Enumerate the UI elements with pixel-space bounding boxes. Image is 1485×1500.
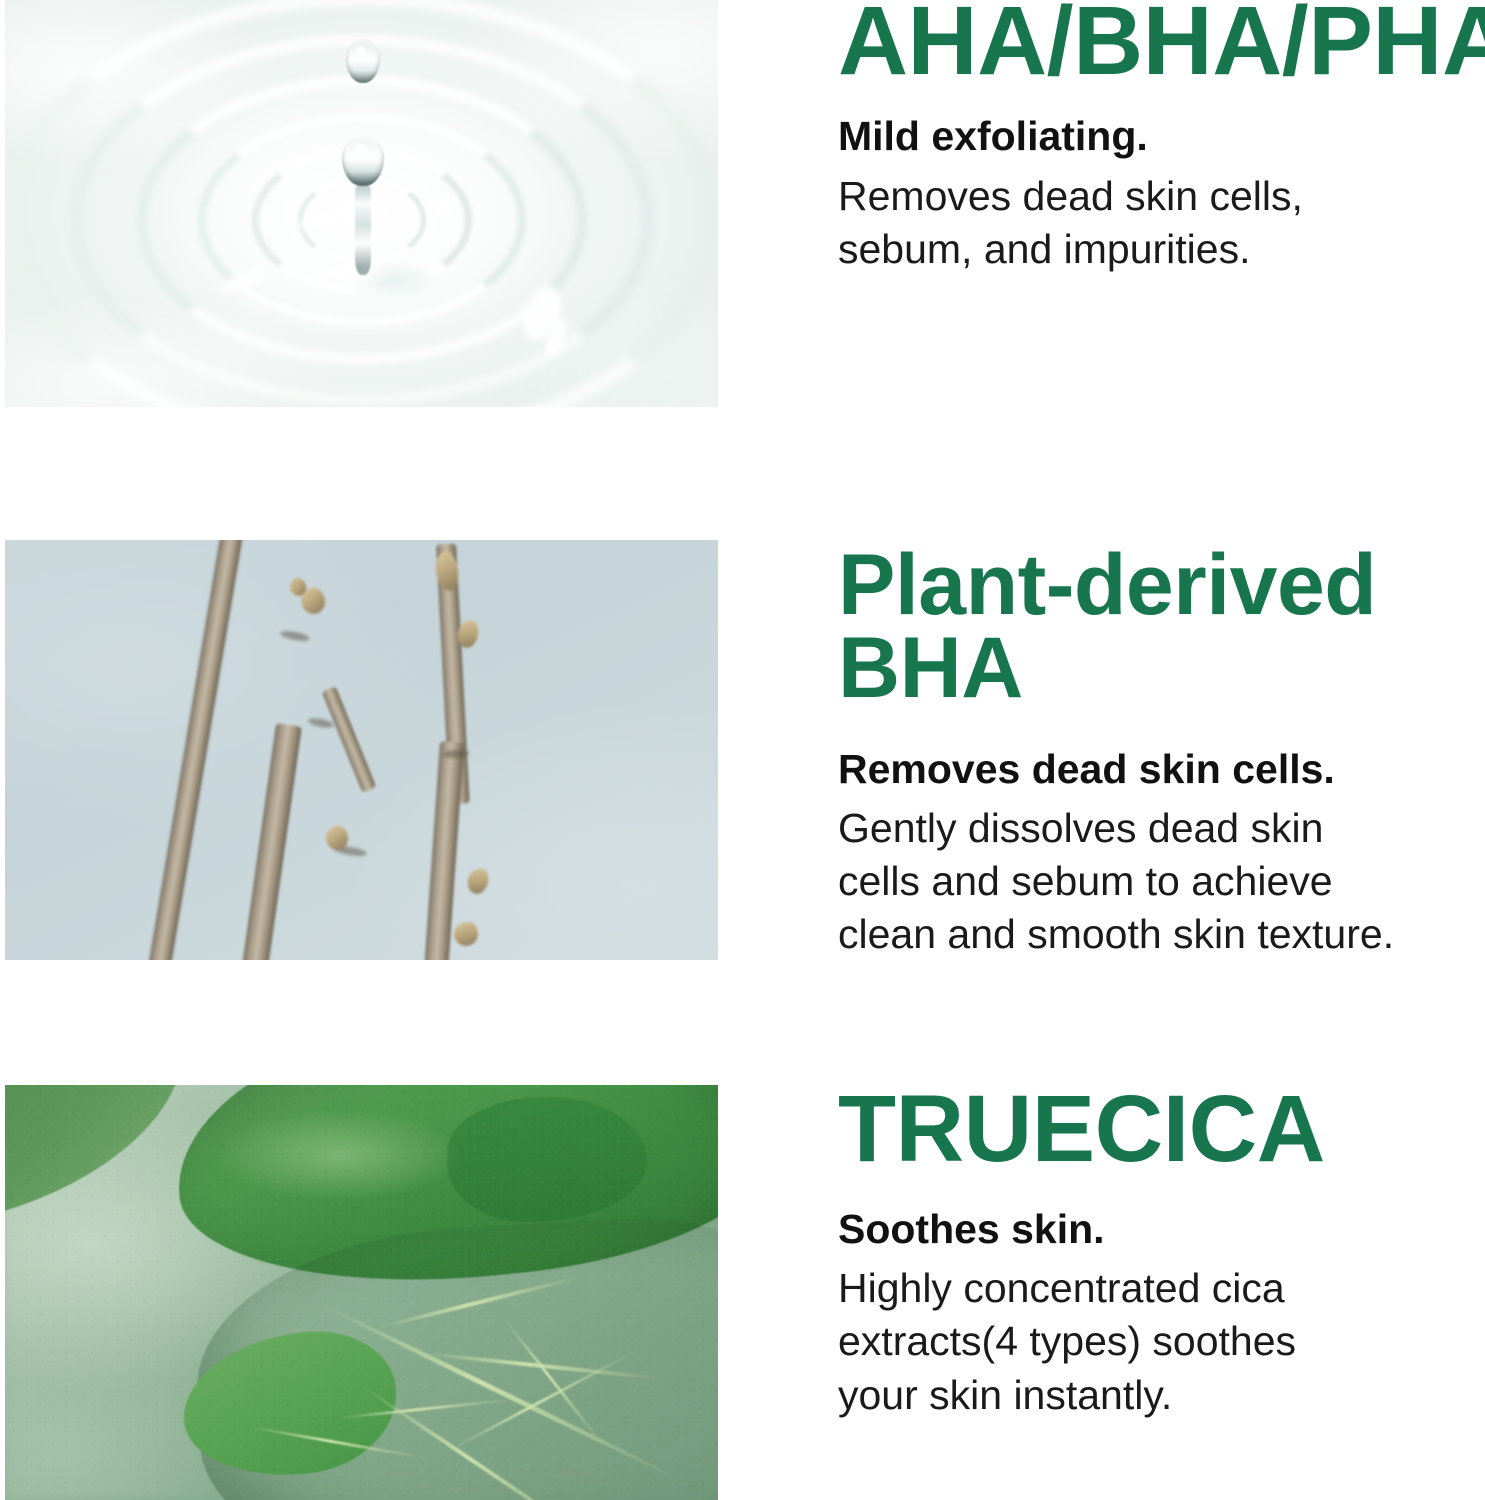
branch-photo-canvas [5,540,718,960]
branch-main-trunk-lower [241,723,302,960]
water-droplet-ripple-photo [5,0,718,407]
water-droplet-lower [342,136,384,186]
branch-blur-layer [5,540,718,960]
water-photo-canvas [5,0,718,407]
cica-leaf-photo [5,1085,718,1500]
feature-body-plant-derived-bha: Gently dissolves dead skin cells and seb… [838,802,1483,962]
branch-fork-twig [321,686,376,793]
branch-bud-7 [454,922,478,946]
feature-title-aha-bha-pha: AHA/BHA/PHA [838,0,1483,88]
feature-text-aha-bha-pha: AHA/BHA/PHA Mild exfoliating. Removes de… [838,0,1483,277]
leaf-upper-highlight [219,1110,461,1201]
feature-text-plant-derived-bha: Plant-derived BHA Removes dead skin cell… [838,544,1483,962]
feature-subtitle-plant-derived-bha: Removes dead skin cells. [838,747,1483,793]
branch-node-1 [279,630,310,644]
feature-block-aha-bha-pha: AHA/BHA/PHA Mild exfoliating. Removes de… [0,0,1485,500]
water-sheen-3 [433,195,449,217]
feature-title-plant-derived-bha: Plant-derived BHA [838,544,1483,711]
feature-subtitle-aha-bha-pha: Mild exfoliating. [838,114,1483,160]
water-droplet-upper [346,39,380,83]
leaf-photo-canvas [5,1085,718,1500]
water-splash-column [355,183,371,275]
branch-main-trunk [145,540,244,960]
feature-block-truecica: TRUECICA Soothes skin. Highly concentrat… [0,1085,1485,1500]
feature-body-truecica: Highly concentrated cica extracts(4 type… [838,1262,1483,1422]
feature-body-aha-bha-pha: Removes dead skin cells, sebum, and impu… [838,170,1483,277]
feature-block-plant-derived-bha: Plant-derived BHA Removes dead skin cell… [0,540,1485,1060]
feature-subtitle-truecica: Soothes skin. [838,1207,1483,1253]
branch-bud-6 [466,866,492,896]
willow-branch-photo [5,540,718,960]
feature-text-truecica: TRUECICA Soothes skin. Highly concentrat… [838,1083,1483,1422]
feature-title-truecica: TRUECICA [838,1083,1483,1175]
product-feature-infographic: AHA/BHA/PHA Mild exfoliating. Removes de… [0,0,1485,1500]
branch-node-2 [307,716,334,729]
